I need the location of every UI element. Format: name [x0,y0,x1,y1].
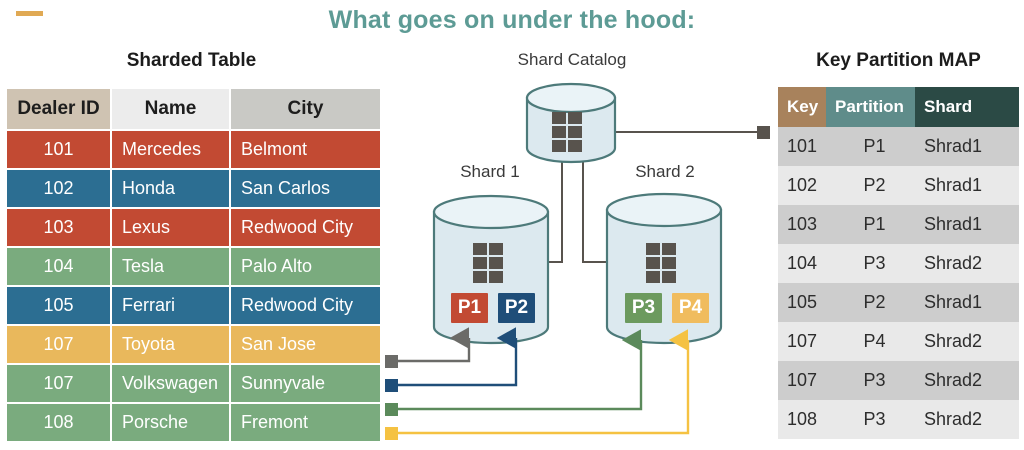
cell-dealer-id: 103 [7,209,110,246]
catalog-grid-icon [552,112,582,152]
shard-catalog-caption: Shard Catalog [482,50,662,70]
table-header-row: Dealer ID Name City [7,89,380,129]
cell-key: 104 [778,244,826,283]
column-header-dealer-id: Dealer ID [7,89,110,129]
cell-key: 107 [778,361,826,400]
table-row: 104 P3 Shrad2 [778,244,1019,283]
cell-partition: P2 [826,283,915,322]
column-header-name: Name [112,89,229,129]
cell-shard: Shrad2 [915,244,1019,283]
cell-key: 103 [778,205,826,244]
cell-name: Toyota [112,326,229,363]
table-row: 101 Mercedes Belmont [7,131,380,168]
shard1-caption: Shard 1 [430,162,550,182]
sharded-table-caption: Sharded Table [5,50,378,72]
cell-dealer-id: 107 [7,365,110,402]
key-map-header-row: Key Partition Shard [778,87,1019,127]
cell-dealer-id: 101 [7,131,110,168]
column-header-partition: Partition [826,87,915,127]
partition-chip-p4: P4 [672,293,709,323]
cell-name: Volkswagen [112,365,229,402]
p1-connector-line [398,338,469,361]
table-row: 107 P4 Shrad2 [778,322,1019,361]
table-row: 102 P2 Shrad1 [778,166,1019,205]
cell-shard: Shrad1 [915,283,1019,322]
cell-shard: Shrad1 [915,127,1019,166]
p3-connector-line [398,340,641,409]
cell-shard: Shrad2 [915,400,1019,439]
legend-square-catalog [757,126,770,139]
key-partition-map-caption: Key Partition MAP [778,50,1019,72]
shard-catalog-cylinder [527,84,615,162]
table-row: 104 Tesla Palo Alto [7,248,380,285]
cell-city: San Carlos [231,170,380,207]
cell-city: Redwood City [231,287,380,324]
cell-shard: Shrad2 [915,361,1019,400]
cell-dealer-id: 107 [7,326,110,363]
cell-partition: P1 [826,205,915,244]
cell-partition: P1 [826,127,915,166]
cell-dealer-id: 108 [7,404,110,441]
partition-chip-p3: P3 [625,293,662,323]
page-title: What goes on under the hood: [0,6,1024,35]
cell-key: 108 [778,400,826,439]
p4-connector-line [398,340,688,433]
shard2-caption: Shard 2 [605,162,725,182]
table-row: 102 Honda San Carlos [7,170,380,207]
cell-shard: Shrad1 [915,205,1019,244]
cell-key: 107 [778,322,826,361]
cell-partition: P2 [826,166,915,205]
cell-partition: P3 [826,361,915,400]
table-row: 101 P1 Shrad1 [778,127,1019,166]
cell-dealer-id: 105 [7,287,110,324]
cell-name: Porsche [112,404,229,441]
shard2-grid-icon [646,243,676,283]
cell-partition: P4 [826,322,915,361]
cell-shard: Shrad1 [915,166,1019,205]
legend-square-p4 [385,427,398,440]
table-row: 103 Lexus Redwood City [7,209,380,246]
table-row: 105 P2 Shrad1 [778,283,1019,322]
table-row: 107 Toyota San Jose [7,326,380,363]
cell-city: Fremont [231,404,380,441]
cell-key: 101 [778,127,826,166]
table-row: 108 Porsche Fremont [7,404,380,441]
cell-name: Ferrari [112,287,229,324]
p2-connector-line [398,338,516,385]
key-partition-map-table: Key Partition Shard 101 P1 Shrad1 102 P2… [778,87,1019,439]
column-header-key: Key [778,87,826,127]
table-row: 103 P1 Shrad1 [778,205,1019,244]
cell-partition: P3 [826,400,915,439]
cell-city: Sunnyvale [231,365,380,402]
cell-dealer-id: 102 [7,170,110,207]
cell-city: Belmont [231,131,380,168]
cell-name: Honda [112,170,229,207]
table-row: 107 P3 Shrad2 [778,361,1019,400]
cell-shard: Shrad2 [915,322,1019,361]
column-header-city: City [231,89,380,129]
legend-square-p1 [385,355,398,368]
cell-partition: P3 [826,244,915,283]
cell-name: Mercedes [112,131,229,168]
column-header-shard: Shard [915,87,1019,127]
cell-name: Lexus [112,209,229,246]
partition-chip-p1: P1 [451,293,488,323]
partition-chip-p2: P2 [498,293,535,323]
table-row: 107 Volkswagen Sunnyvale [7,365,380,402]
cell-city: Redwood City [231,209,380,246]
cell-dealer-id: 104 [7,248,110,285]
sharded-table: Dealer ID Name City 101 Mercedes Belmont… [5,87,382,443]
cell-name: Tesla [112,248,229,285]
table-row: 108 P3 Shrad2 [778,400,1019,439]
legend-square-p2 [385,379,398,392]
cell-key: 102 [778,166,826,205]
cell-city: San Jose [231,326,380,363]
cell-city: Palo Alto [231,248,380,285]
cell-key: 105 [778,283,826,322]
table-row: 105 Ferrari Redwood City [7,287,380,324]
legend-square-p3 [385,403,398,416]
shard1-grid-icon [473,243,503,283]
